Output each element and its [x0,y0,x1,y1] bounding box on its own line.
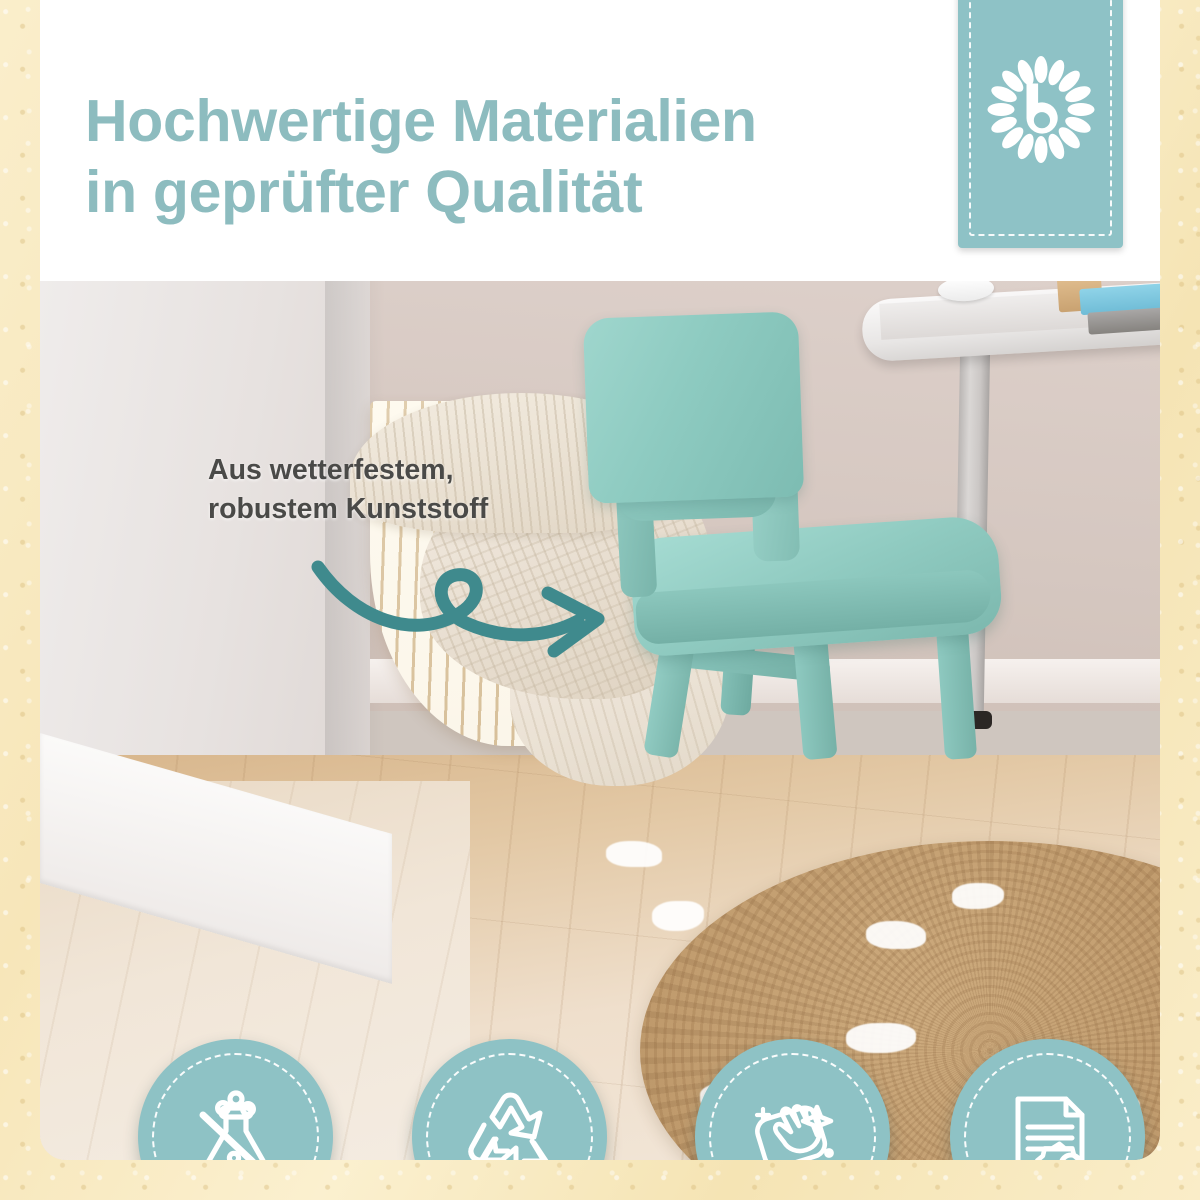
rug-tassel [866,921,926,949]
chair-backrest [583,311,804,503]
promo-card: Hochwertige Materialien in geprüfter Qua… [40,0,1160,1160]
certificate-seal-icon [992,1081,1104,1161]
recycling-arrows-icon [454,1081,566,1161]
rug-tassel [846,1023,916,1053]
annotation-line-1: Aus wetterfestem, [208,451,538,490]
rug-tassel [652,901,704,931]
rug-tassel [952,883,1004,909]
annotation-text: Aus wetterfestem, robustem Kunststoff [208,451,538,530]
rug-tassel [606,841,662,867]
page-title: Hochwertige Materialien in geprüfter Qua… [85,86,935,228]
headline-line-1: Hochwertige Materialien [85,88,757,154]
easy-clean-wipe-hand-icon [737,1081,849,1161]
kids-chair-room-photo: Aus wetterfestem, robustem Kunststoff [40,281,1160,1160]
curved-loop-arrow-icon [310,535,640,675]
brand-badge [958,0,1123,248]
no-harmful-substances-flask-icon [180,1081,292,1161]
headline-line-2: in geprüfter Qualität [85,157,935,228]
header-band: Hochwertige Materialien in geprüfter Qua… [40,0,1160,281]
annotation-line-2: robustem Kunststoff [208,490,538,529]
sunflower-logo [985,54,1097,171]
